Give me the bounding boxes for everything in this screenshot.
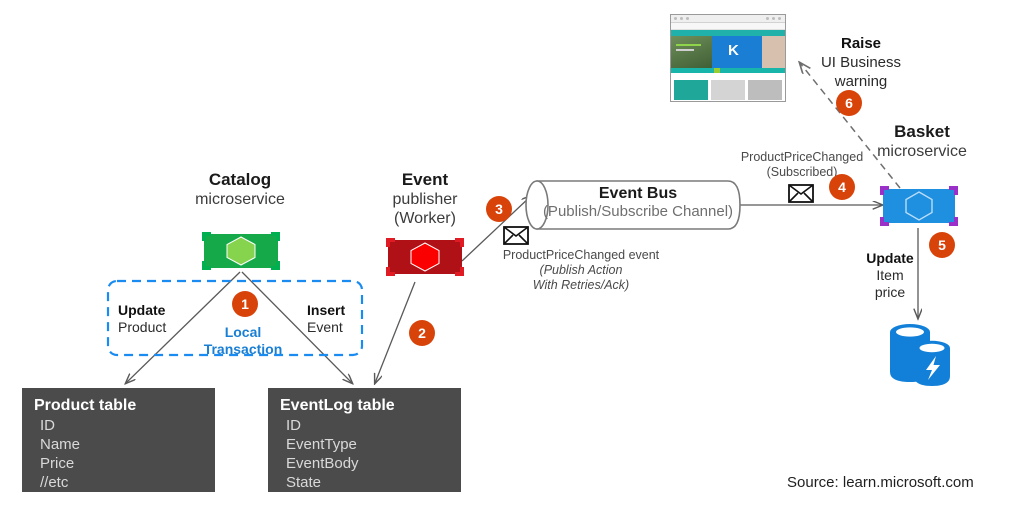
browser-hero-banner: K <box>671 36 785 68</box>
local-transaction-line1: Local <box>195 324 291 341</box>
subscribed-state: (Subscribed) <box>726 165 878 180</box>
event-publisher-title-group: Event publisher (Worker) <box>365 170 485 228</box>
update-item-line1: Item <box>852 267 928 284</box>
insert-label: Insert <box>307 302 345 319</box>
product-card <box>711 80 745 102</box>
event-bus-subtitle: (Publish/Subscribe Channel) <box>540 203 736 221</box>
update-item-label: Update <box>852 250 928 267</box>
table-row: Price <box>34 454 205 473</box>
step-number: 5 <box>938 237 946 253</box>
database-cylinder-icon <box>886 318 956 386</box>
publish-event-name: ProductPriceChanged event <box>486 248 676 263</box>
publisher-service-name: Event <box>365 170 485 190</box>
browser-window-icon[interactable]: K <box>670 14 786 102</box>
table-row: EventType <box>280 435 451 454</box>
table-row: State <box>280 473 451 492</box>
raise-label: Raise <box>805 34 917 53</box>
basket-database-node[interactable] <box>886 318 956 391</box>
update-item-line2: price <box>852 284 928 301</box>
table-row: ID <box>34 416 205 435</box>
raise-line1: UI Business <box>805 53 917 72</box>
local-transaction-line2: Transaction <box>195 341 291 358</box>
raise-line2: warning <box>805 72 917 91</box>
subscribe-annotation-group: ProductPriceChanged (Subscribed) <box>726 150 878 180</box>
catalog-service-name: Catalog <box>160 170 320 190</box>
table-product: Product table ID Name Price //etc <box>22 388 215 492</box>
table-row: //etc <box>34 473 205 492</box>
step-badge-4: 4 <box>829 174 855 200</box>
product-card <box>748 80 782 102</box>
local-transaction-label-group: Local Transaction <box>195 324 291 358</box>
source-attribution: Source: learn.microsoft.com <box>787 474 974 491</box>
basket-microservice-node[interactable] <box>880 186 958 226</box>
event-bus-label-group: Event Bus (Publish/Subscribe Channel) <box>540 184 736 221</box>
browser-titlebar <box>671 15 785 23</box>
table-row: Name <box>34 435 205 454</box>
product-card <box>674 80 708 102</box>
update-product-label-group: Update Product <box>118 302 166 336</box>
catalog-microservice-node[interactable] <box>201 232 281 270</box>
catalog-service-role: microservice <box>160 190 320 209</box>
envelope-icon <box>503 226 529 245</box>
table-row: ID <box>280 416 451 435</box>
publish-action-line1: (Publish Action <box>486 263 676 278</box>
publisher-role-line1: publisher <box>365 190 485 209</box>
subscribed-event-name: ProductPriceChanged <box>726 150 878 165</box>
table-header: Product table <box>34 396 205 416</box>
update-item-price-group: Update Item price <box>852 250 928 301</box>
envelope-subscribe-wrapper <box>788 184 814 208</box>
update-value: Product <box>118 319 166 336</box>
table-header: EventLog table <box>280 396 451 416</box>
update-label: Update <box>118 302 166 319</box>
publisher-role-line2: (Worker) <box>365 209 485 228</box>
insert-event-label-group: Insert Event <box>307 302 345 336</box>
browser-addressbar <box>671 23 785 30</box>
publish-action-line2: With Retries/Ack) <box>486 278 676 293</box>
step-number: 3 <box>495 201 503 217</box>
step-number: 1 <box>241 296 249 312</box>
event-publisher-icon <box>385 238 465 276</box>
raise-warning-group: Raise UI Business warning <box>805 34 917 91</box>
insert-value: Event <box>307 319 345 336</box>
step-number: 2 <box>418 325 426 341</box>
envelope-publish-wrapper <box>503 226 529 250</box>
step-badge-1: 1 <box>232 291 258 317</box>
catalog-icon <box>201 232 281 270</box>
event-publisher-node[interactable] <box>385 238 465 276</box>
browser-teal-strip <box>671 68 785 73</box>
event-bus-title: Event Bus <box>540 184 736 203</box>
step-badge-3: 3 <box>486 196 512 222</box>
step-badge-2: 2 <box>409 320 435 346</box>
basket-icon <box>880 186 958 226</box>
step-number: 4 <box>838 179 846 195</box>
envelope-icon <box>788 184 814 203</box>
table-eventlog: EventLog table ID EventType EventBody St… <box>268 388 461 492</box>
step-badge-5: 5 <box>929 232 955 258</box>
step-badge-6: 6 <box>836 90 862 116</box>
publish-annotation-group: ProductPriceChanged event (Publish Actio… <box>486 248 676 293</box>
catalog-title-group: Catalog microservice <box>160 170 320 209</box>
basket-service-name: Basket <box>852 122 992 142</box>
step-number: 6 <box>845 95 853 111</box>
table-row: EventBody <box>280 454 451 473</box>
browser-product-cards <box>671 77 785 102</box>
diagram-canvas: Catalog microservice Event publisher (Wo… <box>0 0 1024 512</box>
